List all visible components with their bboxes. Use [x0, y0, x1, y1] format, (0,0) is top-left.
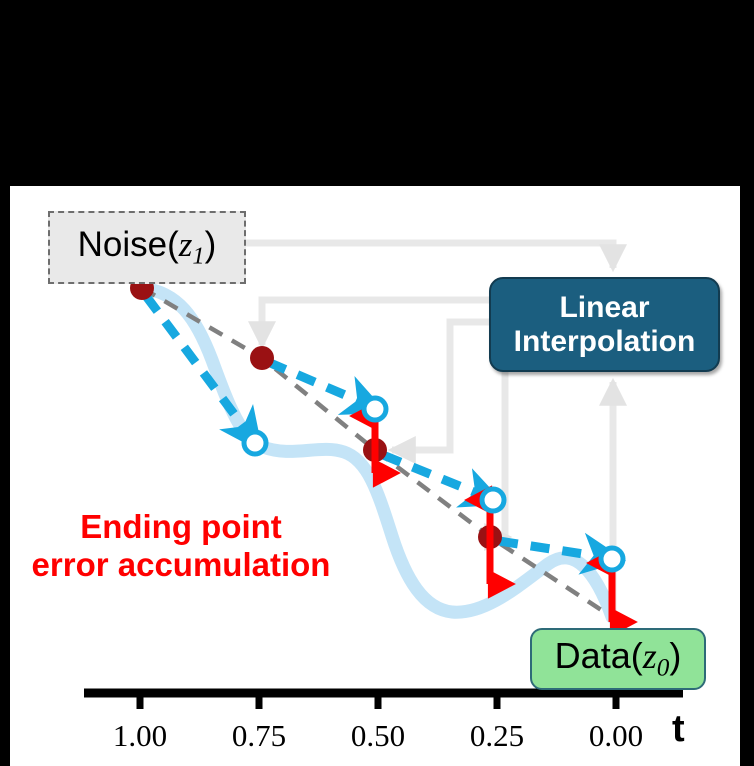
- noise-label: Noise(z1): [78, 225, 217, 270]
- tick-label-025: 0.25: [442, 718, 552, 754]
- reference-point-t075: [250, 346, 274, 370]
- predicted-point-t000: [601, 548, 623, 570]
- lerp-label-line2: Interpolation: [514, 325, 696, 359]
- lerp-label-line1: Linear: [559, 291, 649, 325]
- predicted-point-t025: [482, 489, 504, 511]
- predicted-point-t075: [244, 432, 266, 454]
- error-accumulation-label: Ending point error accumulation: [6, 508, 356, 585]
- data-label: Data(z0): [555, 635, 682, 683]
- data-node[interactable]: Data(z0): [530, 628, 706, 690]
- tick-label-100: 1.00: [85, 718, 195, 754]
- data-subscript: 0: [657, 655, 670, 682]
- tick-label-075: 0.75: [204, 718, 314, 754]
- noise-node[interactable]: Noise(z1): [48, 211, 246, 284]
- data-variable: z: [643, 636, 657, 676]
- figure-root: Noise(z1) Linear Interpolation Data(z0) …: [0, 0, 754, 766]
- tick-label-050: 0.50: [323, 718, 433, 754]
- tick-label-000: 0.00: [561, 718, 671, 754]
- predicted-point-t050: [364, 398, 386, 420]
- noise-subscript: 1: [192, 242, 204, 269]
- axis-name-label: t: [672, 708, 685, 751]
- noise-variable: z: [179, 225, 193, 264]
- linear-interpolation-node[interactable]: Linear Interpolation: [489, 277, 720, 372]
